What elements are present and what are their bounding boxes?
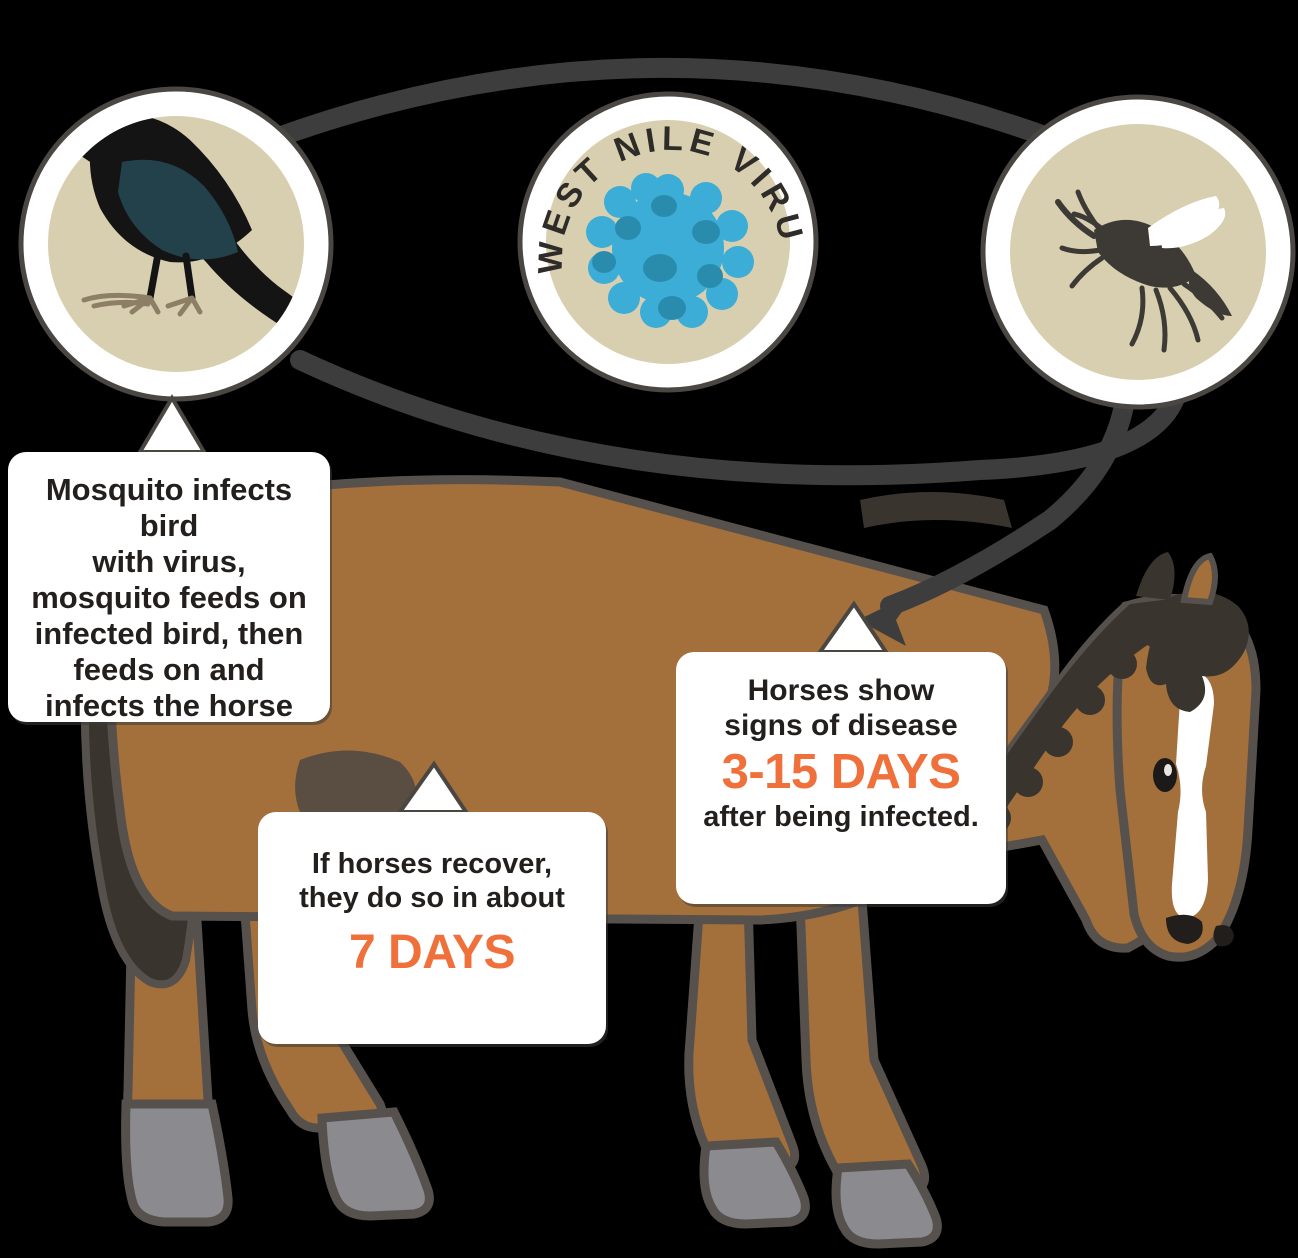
callout-recovery-time: If horses recover, they do so in about 7… (258, 812, 606, 1044)
callout-line: with virus, (24, 544, 314, 580)
callout-line: signs of disease (692, 709, 990, 744)
callout-line: infects the horse (24, 688, 314, 724)
callout-line: feeds on and (24, 652, 314, 688)
hoof (126, 1104, 229, 1222)
callout-highlight-days: 7 DAYS (274, 925, 590, 981)
callout-line: Mosquito infects bird (24, 472, 314, 544)
callout-line: mosquito feeds on (24, 580, 314, 616)
callout-line: after being infected. (692, 801, 990, 835)
callout-line: If horses recover, (274, 848, 590, 882)
horse-ear (1136, 552, 1175, 600)
horse-eye (1153, 758, 1177, 792)
infographic-root: WEST NILE VIRUS (0, 0, 1298, 1258)
callout-mosquito-infects-bird: Mosquito infects bird with virus, mosqui… (8, 452, 330, 722)
callout-signs-of-disease: Horses show signs of disease 3-15 DAYS a… (676, 652, 1006, 904)
tail-bird-callout (140, 398, 204, 452)
callout-line: Horses show (692, 674, 990, 709)
mosquito-node (983, 97, 1293, 407)
callout-highlight-days: 3-15 DAYS (692, 746, 990, 799)
callout-line: infected bird, then (24, 616, 314, 652)
hoof (322, 1112, 429, 1216)
callout-line: they do so in about (274, 882, 590, 916)
